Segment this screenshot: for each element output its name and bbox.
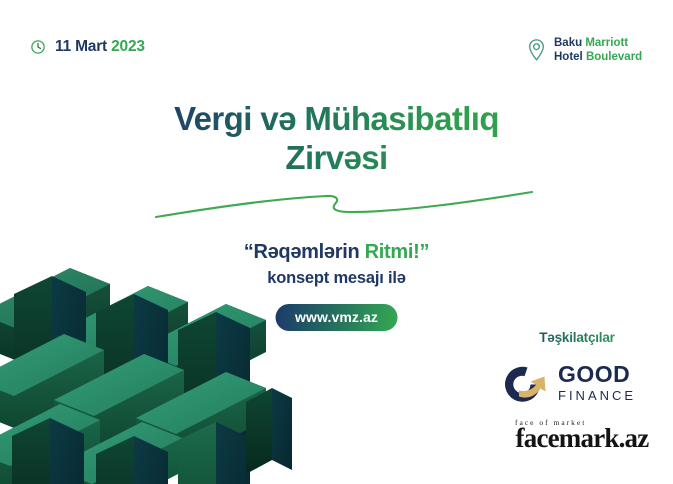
good-word: GOOD (558, 363, 636, 386)
concept-subtitle: konsept mesajı ilə (0, 268, 673, 289)
title-line-2: Zirvəsi (60, 139, 613, 178)
title-line-1: Vergi və Mühasibatlıq (174, 100, 499, 137)
event-venue: Baku Marriott Hotel Boulevard (527, 36, 642, 64)
website-url-pill[interactable]: www.vmz.az (275, 304, 398, 331)
logo-facemark[interactable]: face of market facemark.az (497, 418, 667, 452)
organizers-label: Təşkilatçılar (512, 330, 642, 345)
finance-word: FINANCE (558, 389, 636, 402)
poster-title-block: Vergi və MühasibatlıqZirvəsi (0, 100, 673, 177)
event-date-text: 11 Mart 2023 (55, 38, 145, 56)
concept-quote: “Rəqəmlərin Ritmi!” (0, 240, 673, 265)
venue-text: Baku Marriott Hotel Boulevard (554, 36, 642, 64)
green-swoosh-icon (150, 186, 540, 226)
venue-line2-navy: Hotel (554, 51, 583, 63)
clock-icon (30, 39, 46, 55)
logo-good-finance[interactable]: GOOD FINANCE (497, 358, 636, 406)
good-finance-wordmark: GOOD FINANCE (558, 363, 636, 402)
venue-line1-green: Marriott (585, 37, 628, 49)
location-pin-icon (527, 38, 546, 62)
facemark-wordmark: facemark.az (497, 425, 667, 452)
date-year: 2023 (111, 38, 145, 55)
g-arrow-icon (497, 358, 549, 406)
venue-line2-green: Boulevard (586, 51, 642, 63)
concept-quote-navy: “Rəqəmlərin (244, 241, 365, 263)
concept-quote-green: Ritmi!” (365, 241, 430, 263)
event-date: 11 Mart 2023 (30, 38, 145, 56)
header-meta-row: 11 Mart 2023 Baku Marriott Hotel Bouleva… (0, 0, 673, 86)
poster-title: Vergi və MühasibatlıqZirvəsi (0, 100, 673, 177)
date-day-month: 11 Mart (55, 38, 107, 55)
event-poster: 11 Mart 2023 Baku Marriott Hotel Bouleva… (0, 0, 673, 484)
concept-block: “Rəqəmlərin Ritmi!” konsept mesajı ilə (0, 240, 673, 289)
venue-line1-navy: Baku (554, 37, 582, 49)
